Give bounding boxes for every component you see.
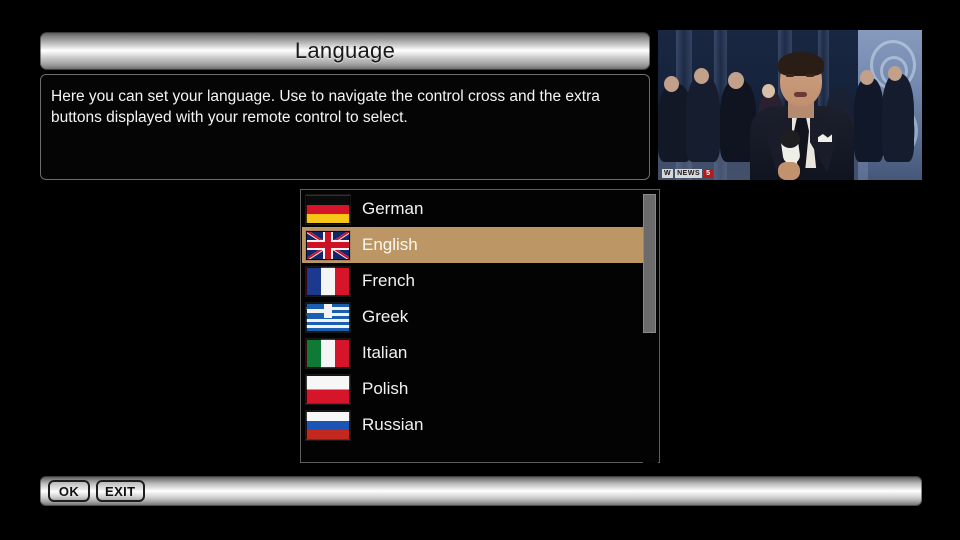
crowd-head	[888, 66, 902, 81]
reporter-mouth	[794, 92, 807, 97]
list-item-russian[interactable]: Russian	[302, 407, 643, 443]
crowd-head	[860, 70, 874, 85]
scrollbar-track[interactable]	[643, 191, 658, 463]
crowd-head	[694, 68, 709, 84]
crowd-figure	[686, 76, 720, 162]
microphone-head-icon	[780, 130, 800, 148]
reporter-hair	[778, 52, 824, 76]
crowd-figure	[854, 78, 884, 162]
channel-bug-news: NEWS	[675, 169, 702, 178]
flag-germany-icon	[306, 195, 350, 224]
flag-france-icon	[306, 267, 350, 296]
flag-greece-icon	[306, 303, 350, 332]
crowd-figure	[882, 74, 914, 162]
reporter-eye	[806, 74, 814, 77]
language-label: English	[362, 235, 418, 255]
flag-uk-icon	[306, 231, 350, 260]
language-list[interactable]: German English French Greek	[300, 189, 660, 463]
flag-russia-icon	[306, 411, 350, 440]
flag-poland-icon	[306, 375, 350, 404]
language-label: German	[362, 199, 423, 219]
language-label: Italian	[362, 343, 407, 363]
flag-italy-icon	[306, 339, 350, 368]
list-item-italian[interactable]: Italian	[302, 335, 643, 371]
reporter-eye	[786, 74, 794, 77]
list-item-german[interactable]: German	[302, 191, 643, 227]
list-item-greek[interactable]: Greek	[302, 299, 643, 335]
channel-bug-letter: W	[662, 169, 673, 178]
channel-bug-number: 5	[704, 169, 712, 178]
ok-button[interactable]: OK	[48, 480, 90, 502]
video-preview[interactable]: W NEWS 5	[658, 30, 922, 180]
list-item-polish[interactable]: Polish	[302, 371, 643, 407]
page-title: Language	[295, 38, 395, 64]
help-text: Here you can set your language. Use to n…	[51, 87, 635, 129]
language-list-rows: German English French Greek	[302, 191, 643, 443]
crowd-head	[728, 72, 744, 89]
language-label: Greek	[362, 307, 408, 327]
exit-button-label: EXIT	[105, 484, 136, 499]
crowd-head	[664, 76, 679, 92]
window-title-bar: Language	[40, 32, 650, 70]
channel-logo-bug: W NEWS 5	[662, 169, 713, 178]
ok-button-label: OK	[59, 484, 79, 499]
language-label: Polish	[362, 379, 408, 399]
tv-settings-screen: Language Here you can set your language.…	[0, 0, 960, 540]
language-label: Russian	[362, 415, 423, 435]
exit-button[interactable]: EXIT	[96, 480, 145, 502]
language-label: French	[362, 271, 415, 291]
scrollbar-thumb[interactable]	[643, 194, 656, 333]
reporter-hand	[778, 162, 800, 180]
list-item-french[interactable]: French	[302, 263, 643, 299]
crowd-head	[762, 84, 775, 98]
list-item-english[interactable]: English	[302, 227, 643, 263]
bottom-action-bar: OK EXIT	[40, 476, 922, 506]
help-text-panel: Here you can set your language. Use to n…	[40, 74, 650, 180]
